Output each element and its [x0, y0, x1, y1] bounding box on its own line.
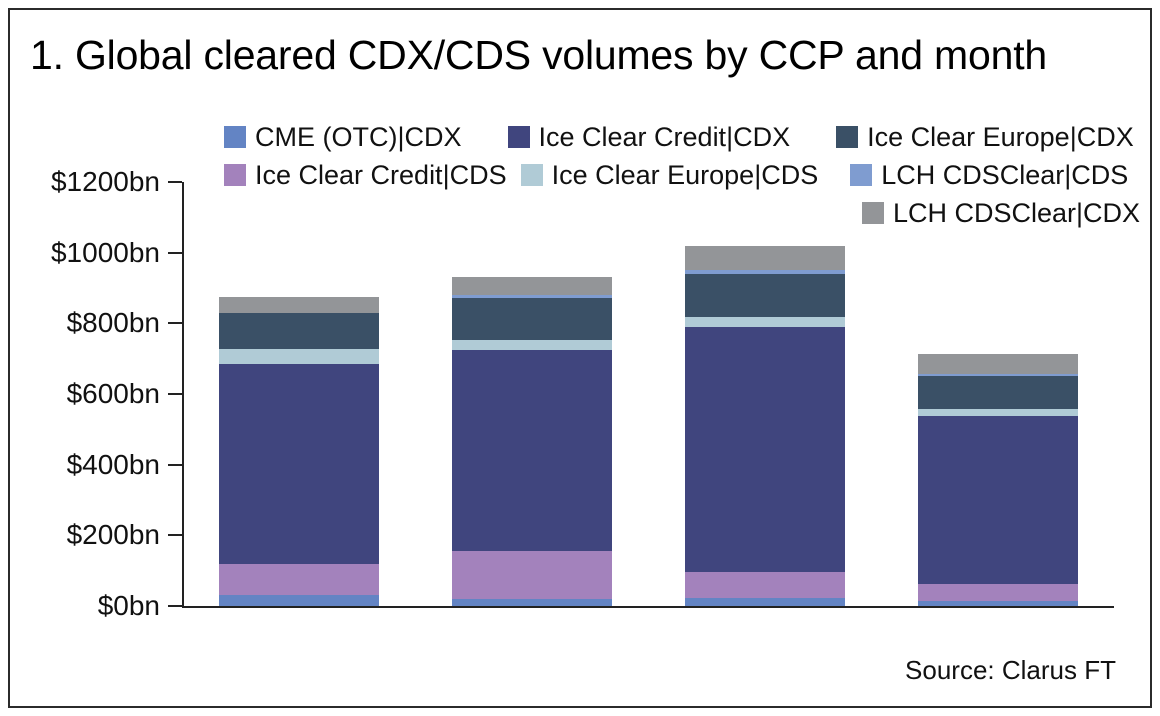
y-tick-label: $200bn — [67, 519, 160, 551]
bar-segment[interactable] — [918, 354, 1078, 374]
chart-figure: 1. Global cleared CDX/CDS volumes by CCP… — [0, 0, 1160, 716]
legend-item-cme-otc-cdx[interactable]: CME (OTC)|CDX — [224, 124, 462, 151]
plot-area: $1200bn$1000bn$800bn$600bn$400bn$200bn$0… — [182, 182, 1114, 606]
y-tick-mark — [168, 534, 182, 536]
y-tick-label: $1200bn — [51, 166, 160, 198]
y-tick-mark — [168, 181, 182, 183]
bar-segment[interactable] — [452, 551, 612, 599]
bar-segment[interactable] — [685, 317, 845, 328]
bar-segment[interactable] — [219, 564, 379, 596]
y-tick-mark — [168, 393, 182, 395]
bar-segment[interactable] — [452, 599, 612, 606]
bar-segment[interactable] — [685, 598, 845, 606]
y-tick-label: $400bn — [67, 449, 160, 481]
bar-segment[interactable] — [685, 327, 845, 572]
y-tick-mark — [168, 464, 182, 466]
legend-row-1: CME (OTC)|CDX Ice Clear Credit|CDX Ice C… — [224, 118, 1144, 156]
bar-segment[interactable] — [918, 409, 1078, 416]
bar-segment[interactable] — [918, 376, 1078, 410]
bar-segment[interactable] — [918, 584, 1078, 601]
stacked-bar[interactable] — [219, 297, 379, 606]
bar-segment[interactable] — [452, 350, 612, 551]
legend-label-cme-otc-cdx: CME (OTC)|CDX — [255, 124, 462, 151]
bar-segment[interactable] — [219, 595, 379, 606]
bar-segment[interactable] — [219, 349, 379, 364]
y-tick-mark — [168, 605, 182, 607]
bar-segment[interactable] — [219, 297, 379, 313]
stacked-bar[interactable] — [452, 277, 612, 606]
bar-segment[interactable] — [685, 572, 845, 598]
bar-segment[interactable] — [452, 340, 612, 350]
legend-swatch-cme-otc-cdx — [224, 126, 246, 148]
stacked-bar[interactable] — [685, 246, 845, 606]
chart-title: 1. Global cleared CDX/CDS volumes by CCP… — [30, 32, 1047, 79]
legend-label-ice-clear-europe-cdx: Ice Clear Europe|CDX — [867, 124, 1134, 151]
legend-swatch-ice-clear-europe-cdx — [836, 126, 858, 148]
x-axis-line — [182, 606, 1114, 608]
bar-segment[interactable] — [918, 601, 1078, 606]
bar-segment[interactable] — [452, 277, 612, 295]
legend-item-ice-clear-europe-cdx[interactable]: Ice Clear Europe|CDX — [836, 124, 1134, 151]
y-tick-label: $800bn — [67, 307, 160, 339]
bar-segment[interactable] — [219, 313, 379, 349]
y-tick-label: $1000bn — [51, 237, 160, 269]
y-tick-mark — [168, 252, 182, 254]
legend-label-ice-clear-credit-cdx: Ice Clear Credit|CDX — [539, 124, 791, 151]
bar-segment[interactable] — [452, 298, 612, 340]
legend-swatch-ice-clear-credit-cdx — [508, 126, 530, 148]
bar-segment[interactable] — [685, 274, 845, 317]
bar-segment[interactable] — [685, 246, 845, 270]
legend-item-ice-clear-credit-cdx[interactable]: Ice Clear Credit|CDX — [508, 124, 791, 151]
bar-segment[interactable] — [918, 416, 1078, 584]
y-tick-mark — [168, 322, 182, 324]
y-tick-label: $0bn — [98, 590, 160, 622]
bar-series-container: AprMayJunJul — [182, 182, 1114, 606]
bar-segment[interactable] — [219, 364, 379, 564]
y-tick-label: $600bn — [67, 378, 160, 410]
stacked-bar[interactable] — [918, 354, 1078, 606]
source-caption: Source: Clarus FT — [905, 655, 1116, 686]
